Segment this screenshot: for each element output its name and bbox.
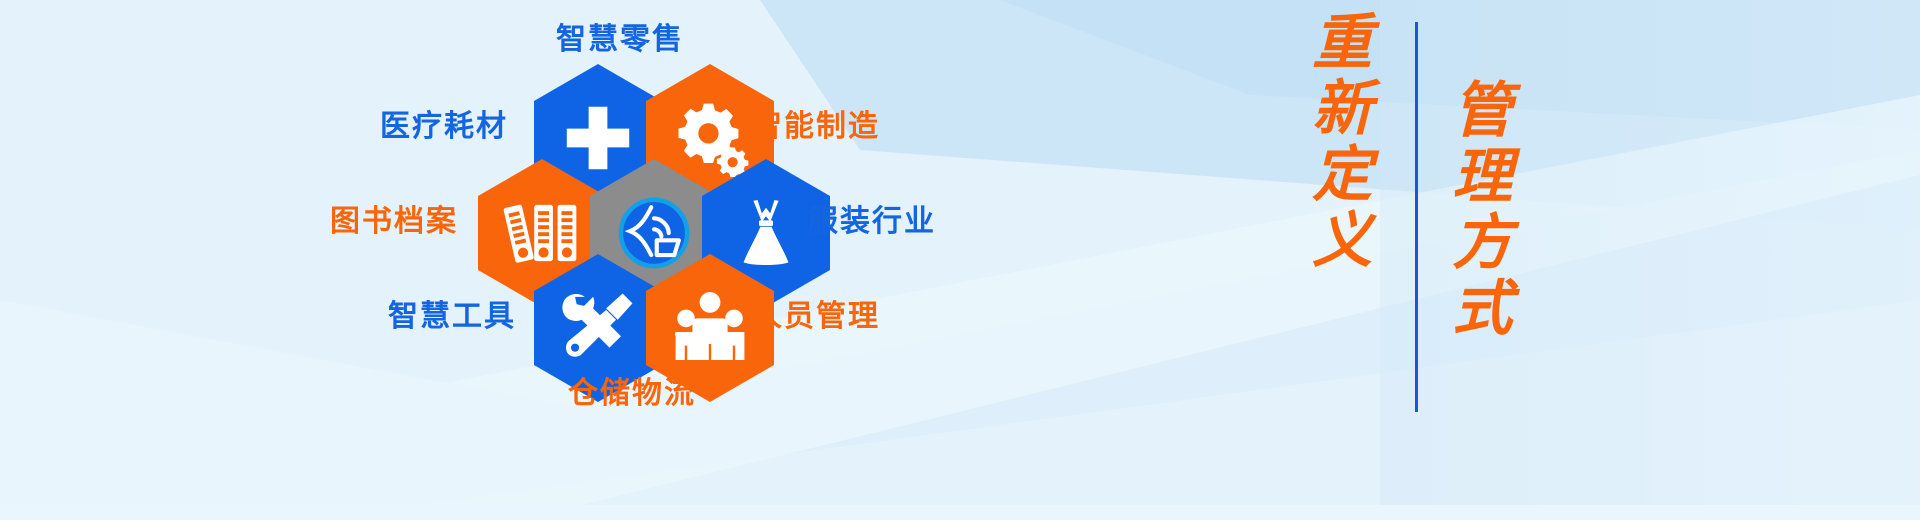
label-smart-tools: 智慧工具 (388, 291, 516, 335)
label-smart-retail: 智慧零售 (556, 14, 684, 58)
label-smart-manufacturing: 智能制造 (752, 101, 880, 145)
wrench-screwdriver-icon (557, 287, 639, 369)
headline-column-left: 重新定义 (1295, 10, 1378, 274)
label-warehouse-logistics: 仓储物流 (568, 368, 696, 412)
headline-column-right: 管理方式 (1435, 78, 1518, 342)
banner-root: 智慧零售 医疗耗材 智能制造 图书档案 服装行业 智慧工具 人员管理 仓储物流 … (0, 0, 1920, 520)
binders-icon (503, 194, 581, 272)
label-personnel-management: 人员管理 (752, 291, 880, 335)
medical-cross-icon (559, 99, 637, 177)
wifi-globe-logo-icon (608, 187, 700, 279)
people-group-icon (667, 288, 753, 368)
dress-icon (731, 190, 801, 276)
label-library-archive: 图书档案 (330, 196, 458, 240)
label-apparel-industry: 服装行业 (808, 196, 936, 240)
hexagon-cluster (430, 28, 990, 498)
headline-divider (1415, 22, 1418, 412)
label-medical-supplies: 医疗耗材 (380, 101, 508, 145)
headline-calligraphy: 重新定义 管理方式 (1295, 0, 1625, 520)
gears-icon (671, 99, 749, 177)
